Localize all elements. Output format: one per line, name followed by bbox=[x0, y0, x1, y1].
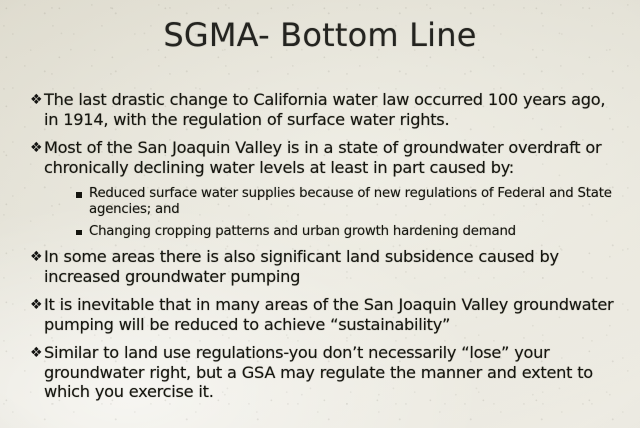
sub-bullet-text: Reduced surface water supplies because o… bbox=[89, 186, 622, 219]
bullet-text: It is inevitable that in many areas of t… bbox=[44, 295, 622, 334]
bullet-text: In some areas there is also significant … bbox=[44, 247, 622, 286]
square-bullet-icon bbox=[76, 230, 89, 236]
slide-title: SGMA- Bottom Line bbox=[0, 16, 640, 54]
bullet-item: ❖ It is inevitable that in many areas of… bbox=[30, 295, 622, 334]
diamond-bullet-icon: ❖ bbox=[30, 139, 44, 159]
square-bullet-icon bbox=[76, 192, 89, 198]
bullet-item: ❖ Most of the San Joaquin Valley is in a… bbox=[30, 138, 622, 177]
sub-bullet-list: Reduced surface water supplies because o… bbox=[30, 186, 622, 240]
slide-body: ❖ The last drastic change to California … bbox=[30, 90, 622, 411]
diamond-bullet-icon: ❖ bbox=[30, 91, 44, 111]
bullet-text: Similar to land use regulations-you don’… bbox=[44, 343, 622, 402]
diamond-bullet-icon: ❖ bbox=[30, 248, 44, 268]
bullet-text: The last drastic change to California wa… bbox=[44, 90, 622, 129]
sub-bullet-item: Reduced surface water supplies because o… bbox=[76, 186, 622, 219]
diamond-bullet-icon: ❖ bbox=[30, 344, 44, 364]
diamond-bullet-icon: ❖ bbox=[30, 296, 44, 316]
bullet-item: ❖ Similar to land use regulations-you do… bbox=[30, 343, 622, 402]
sub-bullet-group: Reduced surface water supplies because o… bbox=[30, 186, 622, 240]
sub-bullet-text: Changing cropping patterns and urban gro… bbox=[89, 224, 622, 240]
bullet-item: ❖ The last drastic change to California … bbox=[30, 90, 622, 129]
bullet-text: Most of the San Joaquin Valley is in a s… bbox=[44, 138, 622, 177]
sub-bullet-item: Changing cropping patterns and urban gro… bbox=[76, 224, 622, 240]
bullet-item: ❖ In some areas there is also significan… bbox=[30, 247, 622, 286]
presentation-slide: SGMA- Bottom Line ❖ The last drastic cha… bbox=[0, 0, 640, 428]
